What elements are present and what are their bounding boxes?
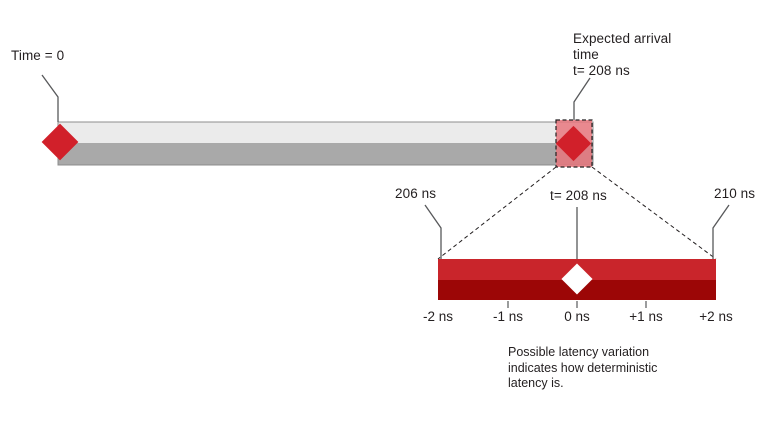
left-bound-label: 206 ns: [395, 186, 436, 202]
latency-variation-diagram: Time = 0 Expected arrival time t= 208 ns…: [0, 0, 761, 425]
magnifier-projection-left: [438, 167, 556, 259]
right-bound-label: 210 ns: [714, 186, 755, 202]
tick-label-minus2: -2 ns: [403, 309, 473, 324]
timeline-upper-band: [58, 122, 593, 143]
center-time-label: t= 208 ns: [550, 188, 607, 204]
main-timeline-bar: [58, 122, 593, 165]
tick-label-zero: 0 ns: [542, 309, 612, 324]
tick-label-minus1: -1 ns: [473, 309, 543, 324]
right-bound-leader-line: [713, 205, 729, 259]
magnified-jitter-bar: [438, 259, 716, 300]
expected-arrival-leader-line: [574, 78, 590, 120]
axis-tick-marks: [508, 301, 646, 308]
expected-arrival-label: Expected arrival time t= 208 ns: [573, 31, 671, 79]
left-bound-leader-line: [425, 205, 441, 259]
magnifier-projection-right: [592, 167, 716, 259]
time-zero-label: Time = 0: [11, 48, 64, 64]
tick-label-plus2: +2 ns: [681, 309, 751, 324]
time-zero-leader-line: [42, 75, 58, 122]
expected-arrival-highlight: [556, 120, 592, 167]
diagram-caption: Possible latency variation indicates how…: [508, 345, 657, 392]
timeline-lower-band: [58, 143, 593, 165]
tick-label-plus1: +1 ns: [611, 309, 681, 324]
